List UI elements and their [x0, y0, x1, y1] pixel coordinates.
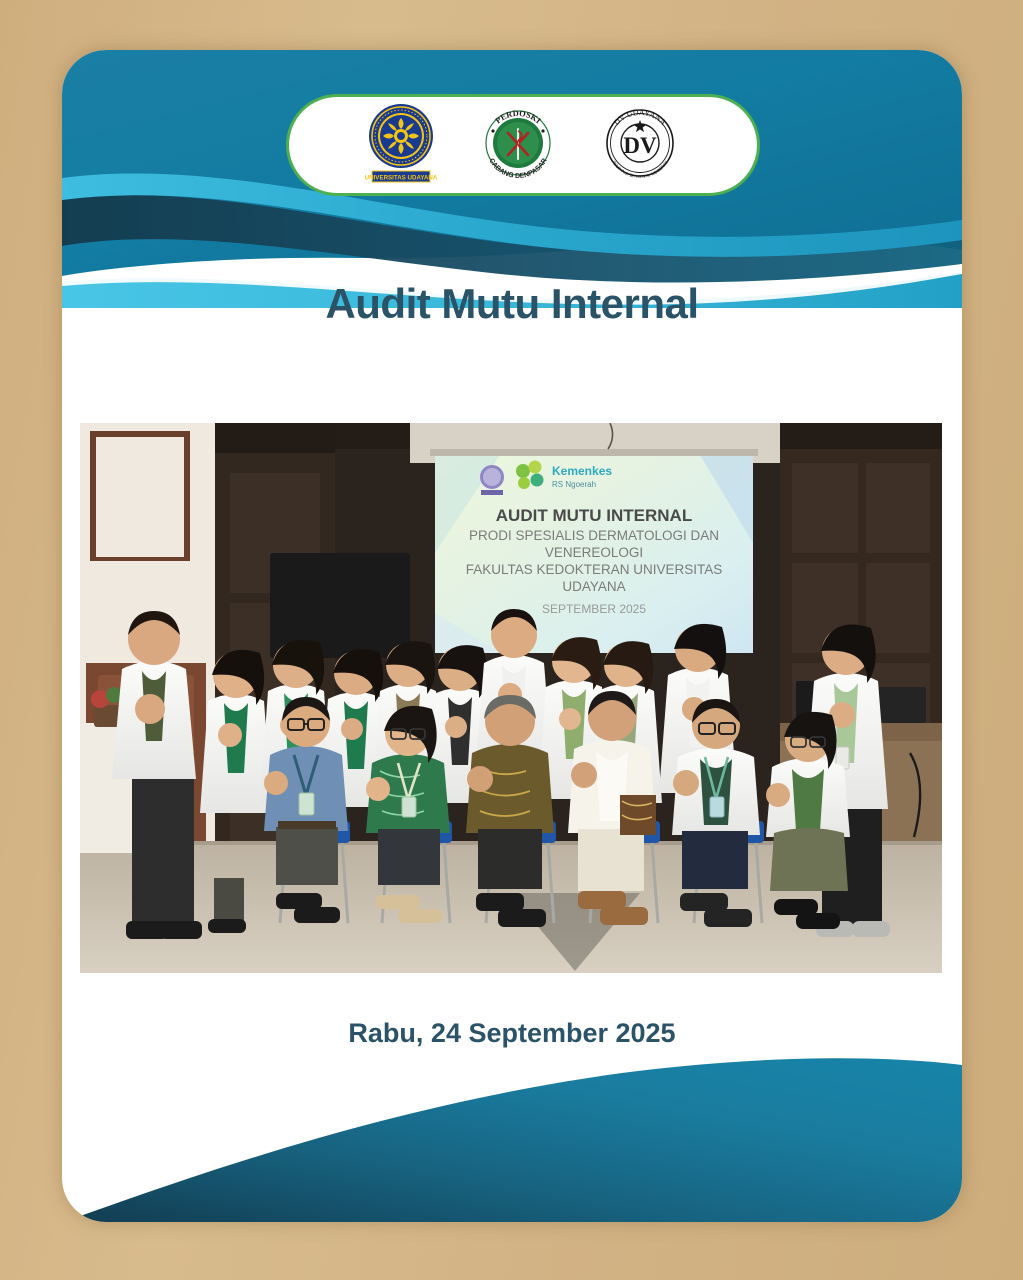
dv-udayana-logo: DV DV UDAYANA RSUP Prof. Dr. I.G.N.G. NG…: [598, 101, 682, 190]
slide-kemenkes-sub: RS Ngoerah: [552, 480, 596, 489]
slide-line5: UDAYANA: [562, 579, 625, 594]
bottom-wave-decoration: [62, 1057, 962, 1222]
logo-badge-panel: UNIVERSITAS UDAYANA: [286, 94, 760, 196]
group-photo-illustration: Kemenkes RS Ngoerah AUDIT MUTU INTERNAL …: [80, 423, 942, 973]
event-date: Rabu, 24 September 2025: [62, 1018, 962, 1049]
slide-line4: FAKULTAS KEDOKTERAN UNIVERSITAS: [466, 562, 723, 577]
perdoski-logo: PERDOSKI CABANG DENPASAR: [478, 101, 558, 190]
page-title: Audit Mutu Internal: [62, 280, 962, 328]
slide-line2: PRODI SPESIALIS DERMATOLOGI DAN: [469, 528, 719, 543]
slide-line3: VENEREOLOGI: [545, 545, 643, 560]
slide-kemenkes-label: Kemenkes: [552, 464, 612, 478]
universitas-udayana-logo: UNIVERSITAS UDAYANA: [364, 101, 438, 190]
group-photo: Kemenkes RS Ngoerah AUDIT MUTU INTERNAL …: [80, 423, 942, 973]
universitas-udayana-caption: UNIVERSITAS UDAYANA: [365, 174, 438, 181]
group-photo-svg: Kemenkes RS Ngoerah AUDIT MUTU INTERNAL …: [80, 423, 942, 973]
slide-heading: AUDIT MUTU INTERNAL: [496, 506, 692, 525]
footer-wave-svg: [62, 1057, 962, 1222]
universitas-udayana-icon: UNIVERSITAS UDAYANA: [364, 101, 438, 185]
dv-udayana-icon: DV DV UDAYANA RSUP Prof. Dr. I.G.N.G. NG…: [598, 101, 682, 185]
poster-card: UNIVERSITAS UDAYANA: [62, 50, 962, 1222]
poster-root: UNIVERSITAS UDAYANA: [0, 0, 1023, 1280]
dv-center-text: DV: [623, 133, 657, 158]
perdoski-icon: PERDOSKI CABANG DENPASAR: [478, 101, 558, 185]
slide-line6: SEPTEMBER 2025: [542, 602, 646, 616]
